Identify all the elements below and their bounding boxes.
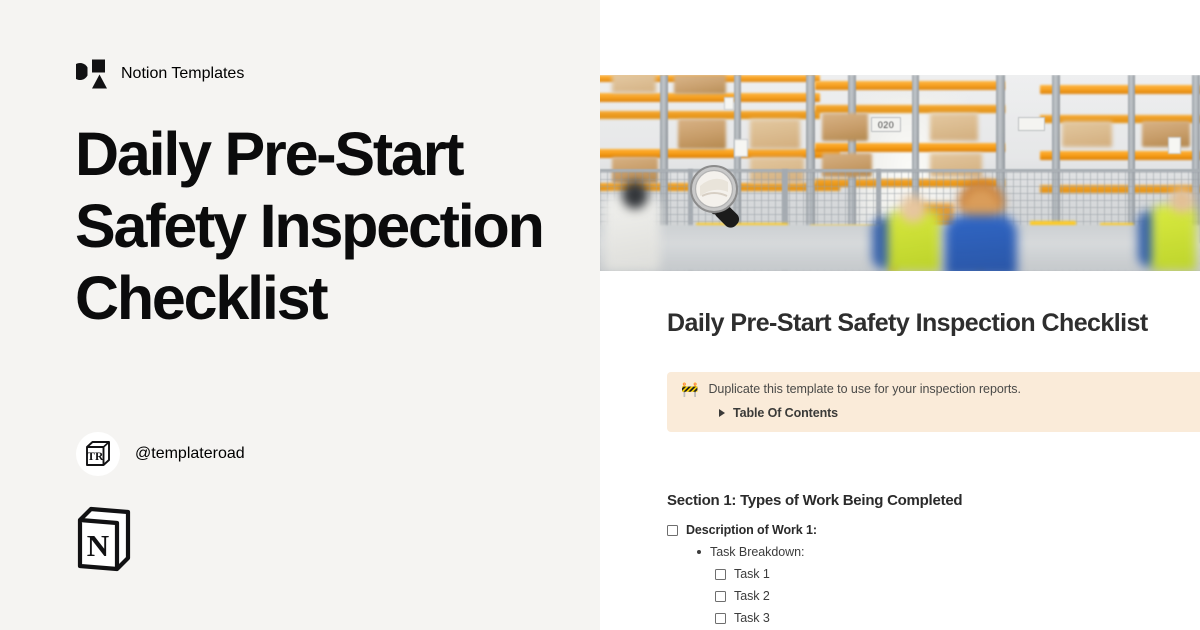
document-title: Daily Pre-Start Safety Inspection Checkl… xyxy=(667,305,1200,341)
chevron-right-icon[interactable] xyxy=(719,409,725,417)
svg-text:N: N xyxy=(87,528,109,563)
author-row[interactable]: TR @templateroad xyxy=(76,432,245,476)
document-body: Section 1: Types of Work Being Completed… xyxy=(667,491,1187,629)
construction-sign-emoji: 🚧 xyxy=(681,381,698,398)
notion-templates-shapes-logo-icon xyxy=(76,58,108,90)
checklist-item-label: Task 3 xyxy=(734,611,770,625)
callout-block: 🚧 Duplicate this template to use for you… xyxy=(667,372,1200,432)
magnifying-glass-icon xyxy=(666,156,750,240)
bullet-icon xyxy=(697,550,701,554)
avatar: TR xyxy=(76,432,120,476)
section-heading: Section 1: Types of Work Being Completed xyxy=(667,491,1187,511)
checklist-item[interactable]: Task 2 xyxy=(667,585,1187,607)
checklist-item[interactable]: Task 3 xyxy=(667,607,1187,629)
checkbox-icon[interactable] xyxy=(667,525,678,536)
template-preview-panel: 020 xyxy=(600,0,1200,630)
brand-name: Notion Templates xyxy=(121,65,244,83)
brand-row: Notion Templates xyxy=(76,58,244,90)
checklist-item-label: Description of Work 1: xyxy=(686,523,817,537)
table-of-contents-toggle[interactable]: Table Of Contents xyxy=(681,405,1200,421)
notion-cube-n-logo-icon: N xyxy=(76,506,134,572)
checklist-item-label: Task 2 xyxy=(734,589,770,603)
checklist-item[interactable]: Task 1 xyxy=(667,563,1187,585)
checklist-item[interactable]: Description of Work 1: xyxy=(667,519,1187,541)
callout-text: Duplicate this template to use for your … xyxy=(708,381,1021,398)
list-item-label: Task Breakdown: xyxy=(710,545,804,559)
checklist-item-label: Task 1 xyxy=(734,567,770,581)
list-item: Task Breakdown: xyxy=(667,541,1187,563)
author-handle: @templateroad xyxy=(135,445,245,463)
checkbox-icon[interactable] xyxy=(715,591,726,602)
table-of-contents-label: Table Of Contents xyxy=(733,405,838,421)
page-title: Daily Pre-Start Safety Inspection Checkl… xyxy=(75,118,575,334)
checkbox-icon[interactable] xyxy=(715,613,726,624)
checkbox-icon[interactable] xyxy=(715,569,726,580)
left-info-panel: Notion Templates Daily Pre-Start Safety … xyxy=(0,0,600,630)
template-preview-card: Notion Templates Daily Pre-Start Safety … xyxy=(0,0,1200,630)
svg-text:TR: TR xyxy=(87,451,104,463)
